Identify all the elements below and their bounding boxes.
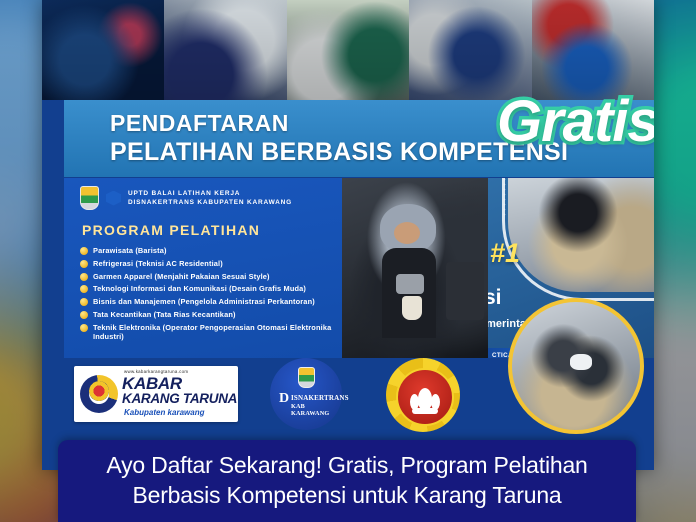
caption-line-1: Ayo Daftar Sekarang! Gratis, Program Pel… (106, 451, 587, 481)
bullet-dot-icon (80, 273, 88, 281)
karawang-crest-icon (80, 186, 99, 210)
emblem-base (412, 408, 438, 414)
arc-decor (502, 178, 654, 301)
gratis-badge: Gratis (497, 88, 654, 155)
milk-pitcher (396, 274, 424, 294)
rank-badge: #1 (490, 238, 520, 269)
program-label: Bisnis dan Manajemen (Pengelola Administ… (93, 297, 315, 307)
org-line-2: DISNAKERTRANS KABUPATEN KARAWANG (128, 198, 292, 207)
program-label: Garmen Apparel (Menjahit Pakaian Sesuai … (93, 272, 270, 282)
barista-face (394, 222, 420, 244)
strip-shade (42, 0, 654, 100)
kabar-line-2: KARANG TARUNA (122, 391, 237, 406)
kabar-karang-taruna-logo: www.kabarkarangtaruna.com KABAR KARANG T… (74, 366, 238, 422)
program-label: Teknologi Informasi dan Komunikasi (Desa… (93, 284, 306, 294)
organization-text: UPTD BALAI LATIHAN KERJA DISNAKERTRANS K… (128, 189, 292, 208)
bullet-dot-icon (80, 298, 88, 306)
list-item: Refrigerasi (Teknisi AC Residential) (80, 259, 334, 269)
circular-inset-photo (508, 298, 644, 434)
list-item: Teknologi Informasi dan Komunikasi (Desa… (80, 284, 334, 294)
headline-line-1: PENDAFTARAN (110, 110, 289, 137)
emblem-flame-center (418, 388, 432, 410)
bullet-dot-icon (80, 247, 88, 255)
kabar-line-3: Kabupaten karawang (124, 408, 204, 417)
disnaker-line-1: ISNAKERTRANS (291, 394, 349, 402)
list-item: Garmen Apparel (Menjahit Pakaian Sesuai … (80, 272, 334, 282)
program-label: Tata Kecantikan (Tata Rias Kecantikan) (93, 310, 236, 320)
coffee-cup (402, 296, 422, 320)
disnaker-hex-icon (106, 191, 121, 206)
program-label: Teknik Elektronika (Operator Pengoperasi… (93, 323, 334, 343)
barista-photo (342, 178, 488, 358)
organization-header: UPTD BALAI LATIHAN KERJA DISNAKERTRANS K… (80, 186, 292, 210)
caption-line-2: Berbasis Kompetensi untuk Karang Taruna (106, 481, 587, 511)
program-info-panel: UPTD BALAI LATIHAN KERJA DISNAKERTRANS K… (64, 178, 342, 358)
bullet-dot-icon (80, 324, 88, 332)
list-item: Teknik Elektronika (Operator Pengoperasi… (80, 323, 334, 343)
inset-face-mask (570, 354, 592, 370)
program-title: PROGRAM PELATIHAN (82, 222, 260, 238)
caption-text: Ayo Daftar Sekarang! Gratis, Program Pel… (106, 451, 587, 511)
bullet-dot-icon (80, 285, 88, 293)
partial-word-si: si (488, 286, 502, 310)
caption-box: Ayo Daftar Sekarang! Gratis, Program Pel… (58, 440, 636, 522)
program-label: Refrigerasi (Teknisi AC Residential) (93, 259, 223, 269)
disnaker-initial: D (279, 391, 289, 407)
disnakertrans-logo: D ISNAKERTRANS KAB KARAWANG (270, 358, 342, 430)
poster-image: PENDAFTARAN PELATIHAN BERBASIS KOMPETENS… (0, 0, 696, 522)
disnaker-crest-icon (298, 367, 315, 388)
disnaker-line-2: KAB KARAWANG (291, 403, 342, 417)
emblem-center (396, 368, 454, 426)
program-label: Parawisata (Barista) (93, 246, 167, 256)
coffee-machine (446, 262, 484, 320)
karang-taruna-emblem-icon (384, 356, 462, 434)
bullet-dot-icon (80, 311, 88, 319)
list-item: Bisnis dan Manajemen (Pengelola Administ… (80, 297, 334, 307)
photo-strip (42, 0, 654, 100)
org-line-1: UPTD BALAI LATIHAN KERJA (128, 189, 292, 198)
list-item: Parawisata (Barista) (80, 246, 334, 256)
program-list: Parawisata (Barista) Refrigerasi (Teknis… (80, 246, 334, 345)
list-item: Tata Kecantikan (Tata Rias Kecantikan) (80, 310, 334, 320)
kabar-seal-icon (89, 381, 109, 401)
bullet-dot-icon (80, 260, 88, 268)
